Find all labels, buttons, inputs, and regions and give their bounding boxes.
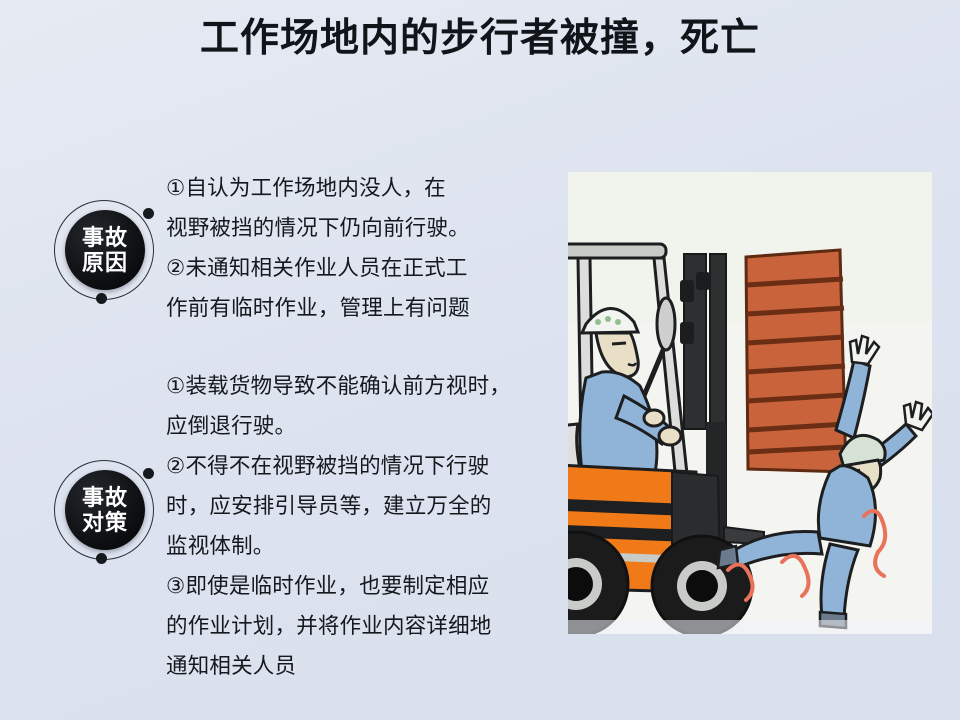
badge-dot-top-right — [143, 208, 154, 219]
accident-cause-text: ①自认为工作场地内没人，在 视野被挡的情况下仍向前行驶。 ②未通知相关作业人员在… — [166, 168, 556, 328]
badge-label-line1: 事故 — [82, 225, 128, 250]
text-line: ③即使是临时作业，也要制定相应 — [166, 566, 556, 606]
badge-label-line2: 原因 — [82, 250, 128, 275]
text-line: 视野被挡的情况下仍向前行驶。 — [166, 208, 556, 248]
page-title: 工作场地内的步行者被撞，死亡 — [0, 14, 960, 64]
accident-illustration — [568, 172, 932, 634]
badge-label-line1: 事故 — [82, 485, 128, 510]
badge-label-line2: 对策 — [82, 510, 128, 535]
text-line: ②不得不在视野被挡的情况下行驶 — [166, 446, 556, 486]
text-line: 通知相关人员 — [166, 646, 556, 686]
badge-accident-cause: 事故 原因 — [52, 198, 160, 306]
cargo-brick-stack — [746, 250, 846, 472]
text-line: 应倒退行驶。 — [166, 406, 556, 446]
badge-dot-top-right — [143, 468, 154, 479]
slide-canvas: 工作场地内的步行者被撞，死亡 事故 原因 事故 对策 ①自认为工作场地内没人，在… — [0, 0, 960, 720]
badge-disc: 事故 对策 — [65, 470, 145, 550]
text-line: ②未通知相关作业人员在正式工 — [166, 248, 556, 288]
text-line: 监视体制。 — [166, 526, 556, 566]
text-line: 时，应安排引导员等，建立万全的 — [166, 486, 556, 526]
badge-disc: 事故 原因 — [65, 210, 145, 290]
text-line: ①自认为工作场地内没人，在 — [166, 168, 556, 208]
accident-measure-text: ①装载货物导致不能确认前方视时， 应倒退行驶。 ②不得不在视野被挡的情况下行驶 … — [166, 366, 556, 686]
text-line: 的作业计划，并将作业内容详细地 — [166, 606, 556, 646]
text-line: ①装载货物导致不能确认前方视时， — [166, 366, 556, 406]
badge-dot-bottom-left — [96, 293, 107, 304]
badge-dot-bottom-left — [96, 553, 107, 564]
badge-accident-measure: 事故 对策 — [52, 458, 160, 566]
text-line: 作前有临时作业，管理上有问题 — [166, 288, 556, 328]
